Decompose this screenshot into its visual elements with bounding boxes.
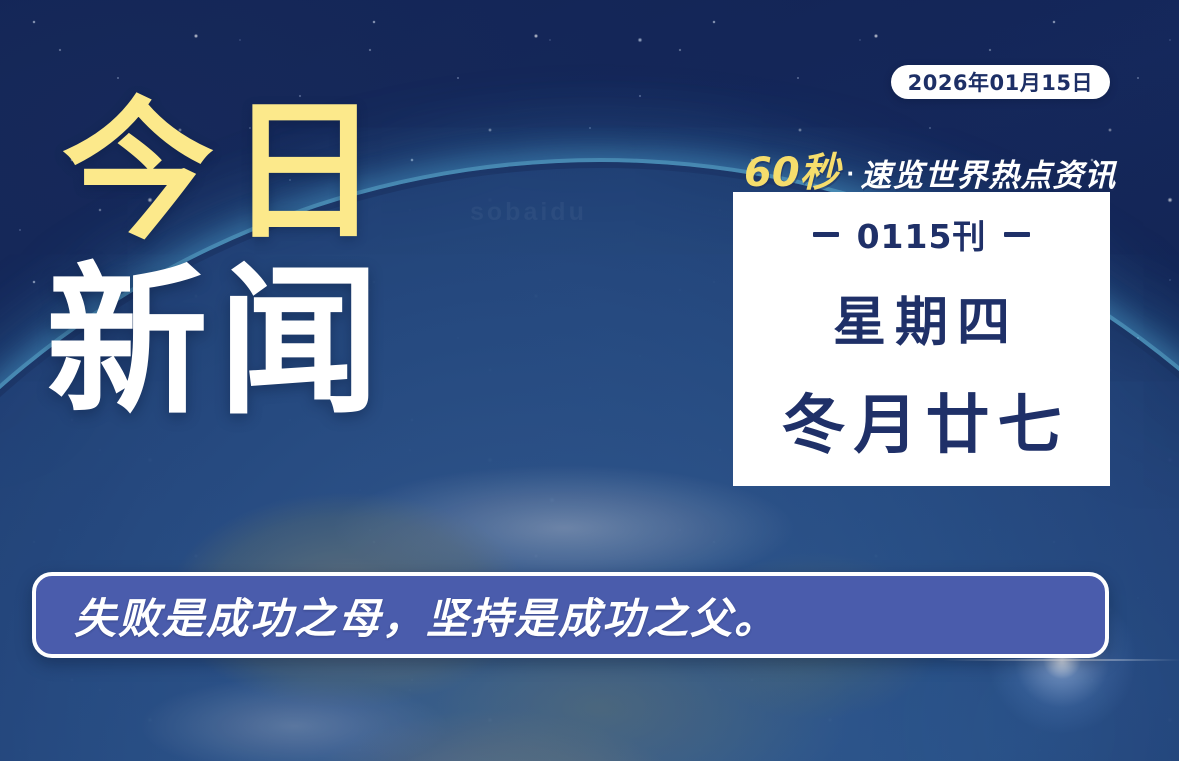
tagline-seconds: 60秒	[744, 140, 840, 198]
tagline-separator: ·	[847, 158, 856, 189]
quote-text: 失败是成功之母，坚持是成功之父。	[74, 585, 778, 646]
news-poster: sobaidu 今日 新闻 2026年01月15日 60秒 · 速览世界热点资讯…	[0, 0, 1179, 761]
weekday-label: 星期四	[824, 280, 1019, 356]
date-badge-label: 2026年01月15日	[908, 67, 1093, 97]
dash-right-icon	[1004, 232, 1030, 237]
lunar-date-label: 冬月廿七	[774, 374, 1070, 466]
title-line-today: 今日	[62, 96, 394, 248]
title-line-news: 新闻	[46, 262, 394, 424]
issue-number: 0115刊	[857, 210, 987, 258]
watermark: sobaidu	[470, 198, 587, 227]
tagline-text: 速览世界热点资讯	[860, 150, 1116, 195]
date-badge: 2026年01月15日	[891, 65, 1110, 99]
issue-row: 0115刊	[813, 210, 1031, 258]
info-card: 0115刊 星期四 冬月廿七	[733, 192, 1110, 486]
tagline: 60秒 · 速览世界热点资讯	[744, 140, 1116, 198]
page-title: 今日 新闻	[62, 96, 394, 424]
quote-banner: 失败是成功之母，坚持是成功之父。	[32, 572, 1109, 658]
dash-left-icon	[813, 232, 839, 237]
